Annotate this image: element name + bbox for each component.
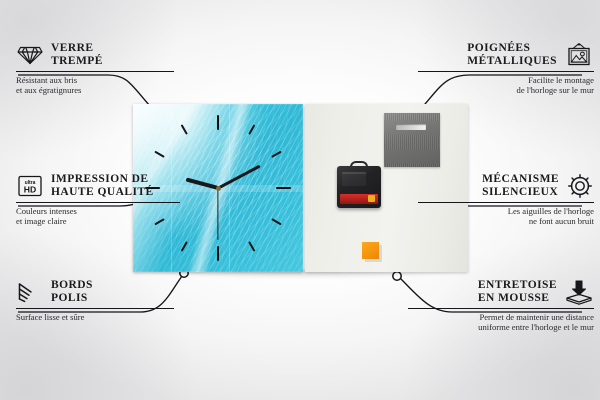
callout-head: ultra HD IMPRESSION DE HAUTE QUALITÉ — [16, 173, 180, 199]
hour-tick — [248, 124, 255, 135]
callout-mecanisme-silencieux: MÉCANISME SILENCIEUX — [418, 173, 594, 227]
ultra-hd-icon: ultra HD — [16, 174, 44, 198]
callout-head: MÉCANISME SILENCIEUX — [418, 173, 594, 199]
callout-title: VERRE TREMPÉ — [51, 42, 103, 68]
diamond-icon — [16, 44, 44, 66]
callout-desc: Les aiguilles de l'horloge ne font aucun… — [418, 206, 594, 227]
foam-spacer-arrow-icon — [564, 279, 594, 305]
hd-label: HD — [24, 185, 36, 195]
callout-impression-haute-qualite: ultra HD IMPRESSION DE HAUTE QUALITÉ Cou… — [16, 173, 180, 227]
callout-poignees-metalliques: POIGNÉES MÉTALLIQUES Facilite le montage… — [418, 42, 594, 96]
callout-bords-polis: BORDS POLIS Surface lisse et sûre — [16, 279, 174, 322]
callout-rule — [16, 308, 174, 309]
callout-rule — [418, 202, 594, 203]
callout-title: IMPRESSION DE HAUTE QUALITÉ — [51, 173, 154, 199]
mechanism-battery — [340, 194, 378, 204]
hour-tick — [181, 124, 188, 135]
callout-desc: Couleurs intenses et image claire — [16, 206, 180, 227]
callout-head: BORDS POLIS — [16, 279, 174, 305]
hour-tick — [181, 241, 188, 252]
callout-head: POIGNÉES MÉTALLIQUES — [418, 42, 594, 68]
hour-tick — [271, 218, 282, 225]
polished-edges-icon — [16, 281, 44, 303]
callout-title: POIGNÉES MÉTALLIQUES — [467, 42, 557, 68]
mechanism-body — [337, 166, 381, 208]
hanger-slot — [396, 124, 426, 130]
gear-icon — [566, 173, 594, 199]
hour-tick — [271, 151, 282, 158]
callout-rule — [16, 71, 174, 72]
callout-title: MÉCANISME SILENCIEUX — [482, 173, 559, 199]
callout-rule — [16, 202, 180, 203]
hour-tick — [154, 151, 165, 158]
battery-plus-terminal — [368, 195, 375, 202]
callout-desc: Surface lisse et sûre — [16, 312, 174, 322]
hour-tick — [217, 246, 219, 261]
callout-desc: Facilite le montage de l'horloge sur le … — [418, 75, 594, 96]
infographic-stage: VERRE TREMPÉ Résistant aux bris et aux é… — [0, 0, 600, 400]
callout-desc: Résistant aux bris et aux égratignures — [16, 75, 174, 96]
callout-head: ENTRETOISE EN MOUSSE — [408, 279, 594, 305]
hour-tick — [248, 241, 255, 252]
hour-hand — [186, 178, 219, 190]
callout-rule — [408, 308, 594, 309]
callout-rule — [418, 71, 594, 72]
hand-center-cap — [216, 186, 221, 191]
hanger-plate — [384, 113, 440, 167]
callout-head: VERRE TREMPÉ — [16, 42, 174, 68]
hour-tick — [217, 115, 219, 130]
minute-hand — [217, 165, 260, 190]
second-hand — [217, 188, 218, 240]
hour-tick — [276, 187, 291, 189]
callout-desc: Permet de maintenir une distance uniform… — [408, 312, 594, 333]
picture-frame-hanger-icon — [564, 42, 594, 68]
foam-spacer — [362, 242, 379, 259]
callout-verre-trempe: VERRE TREMPÉ Résistant aux bris et aux é… — [16, 42, 174, 96]
callout-title: ENTRETOISE EN MOUSSE — [478, 279, 557, 305]
callout-entretoise-en-mousse: ENTRETOISE EN MOUSSE Permet de maintenir… — [408, 279, 594, 333]
callout-title: BORDS POLIS — [51, 279, 93, 305]
mechanism-grille — [342, 172, 366, 186]
clock-mechanism — [337, 166, 381, 208]
